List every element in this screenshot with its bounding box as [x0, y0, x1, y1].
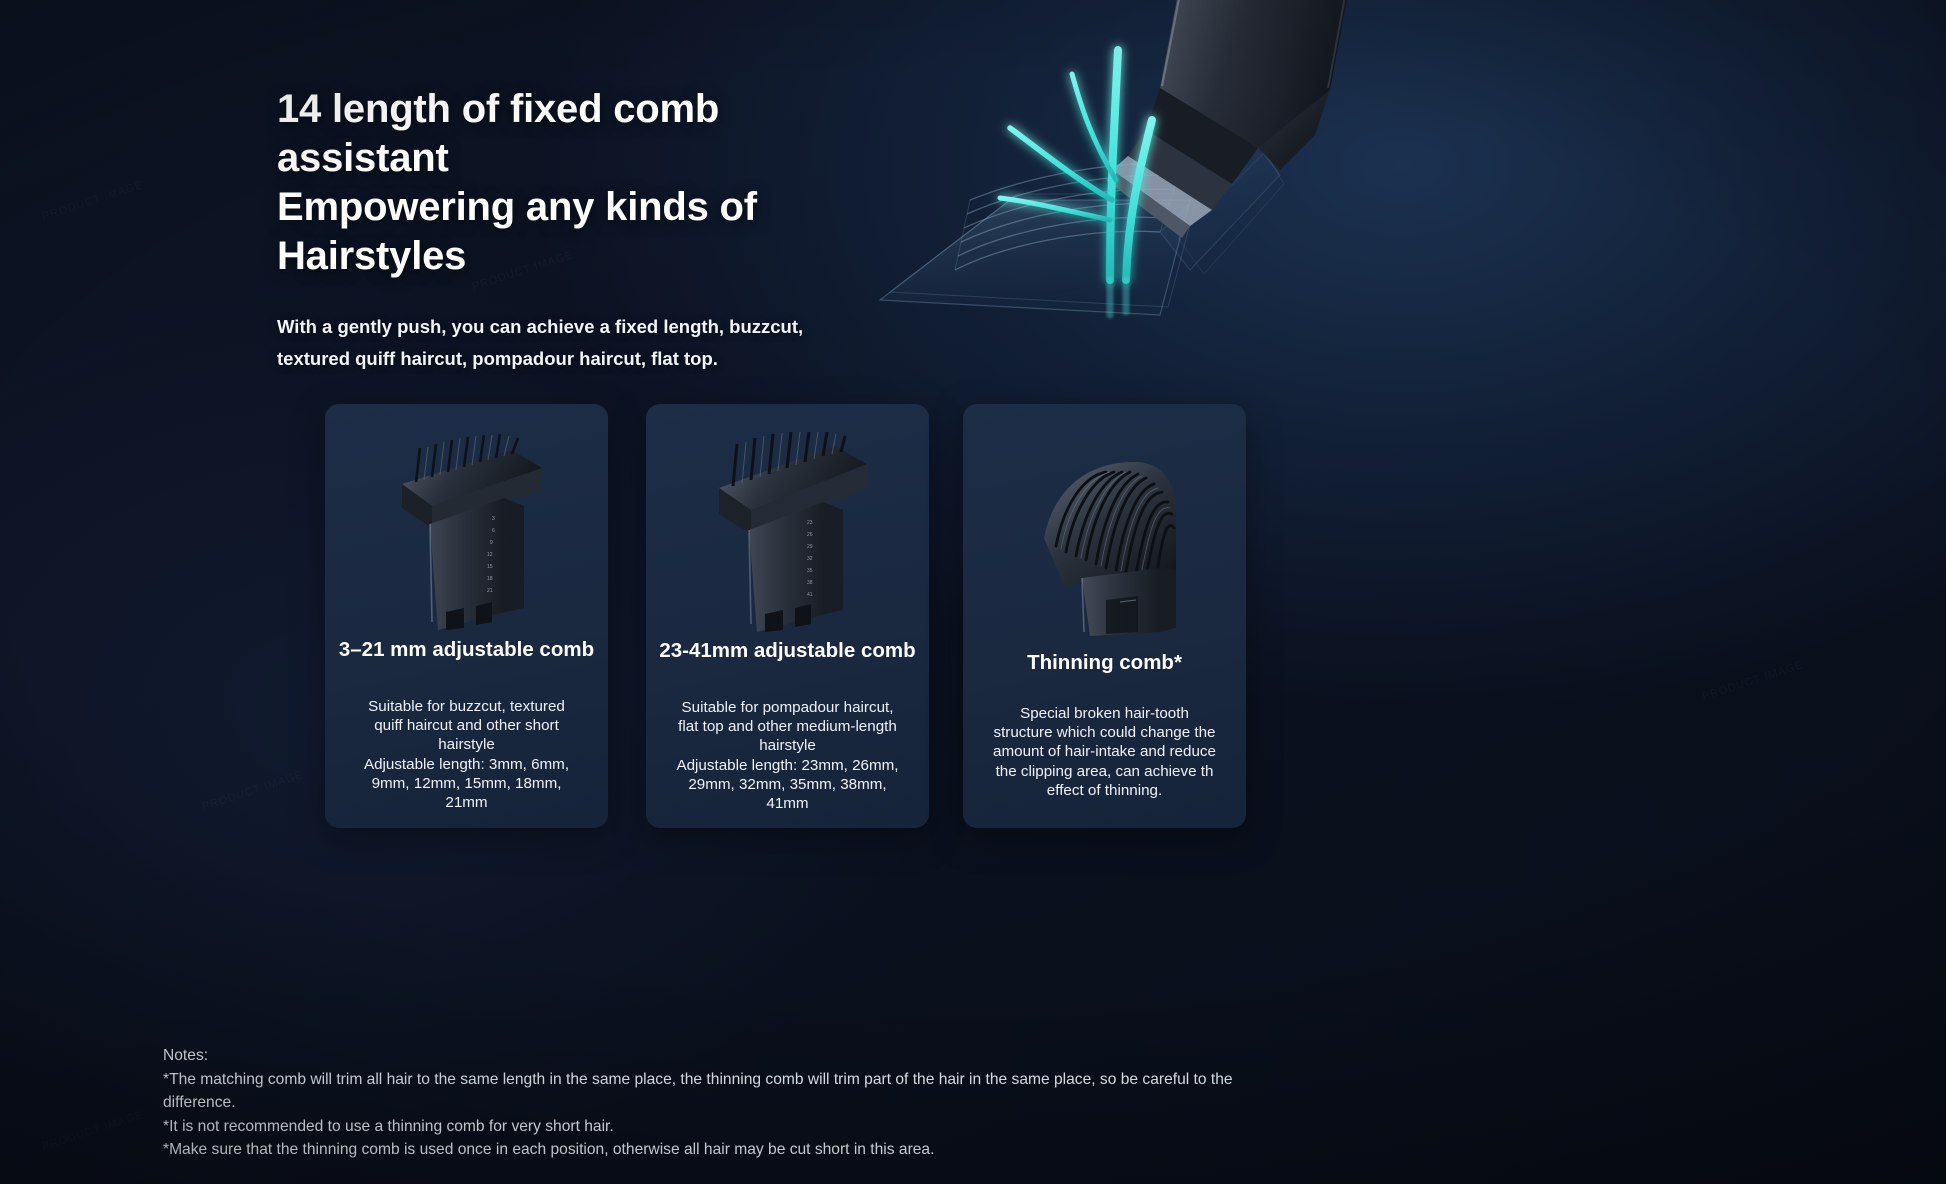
svg-text:32: 32: [807, 556, 813, 562]
card-description: Suitable for buzzcut, textured quiff hai…: [335, 697, 598, 812]
notes-line-1-cont: difference.: [163, 1091, 1863, 1115]
svg-text:21: 21: [487, 588, 493, 594]
card-desc-line-3: hairstyle: [656, 736, 919, 755]
card-description: Suitable for pompadour haircut, flat top…: [656, 698, 919, 813]
svg-text:35: 35: [807, 568, 813, 574]
card-title-line-1: 23-41mm adjustable: [659, 639, 855, 662]
headline-line-1: 14 length of fixed comb: [277, 85, 917, 134]
notes-line-3: *Make sure that the thinning comb is use…: [163, 1138, 1863, 1162]
headline-line-2: assistant: [277, 134, 917, 183]
card-thinning-comb[interactable]: Thinning comb* Special broken hair-tooth…: [963, 404, 1246, 828]
svg-text:26: 26: [807, 532, 813, 538]
card-title-line-2: comb: [539, 638, 594, 661]
svg-text:3: 3: [492, 516, 495, 522]
svg-text:12: 12: [487, 552, 493, 558]
card-title: 3–21 mm adjustable comb: [331, 636, 602, 664]
card-desc-line-2: quiff haircut and other short: [335, 716, 598, 735]
page-title: 14 length of fixed comb assistant Empowe…: [277, 85, 917, 281]
comb-attachment-3-21mm-image: 369 121518 21: [325, 422, 608, 642]
card-desc-line-6: 41mm: [656, 794, 919, 813]
card-desc-line-2: flat top and other medium-length: [656, 717, 919, 736]
subtitle-line-2: textured quiff haircut, pompadour haircu…: [277, 343, 877, 375]
card-desc-line-6: 21mm: [335, 793, 598, 812]
subtitle-line-1: With a gently push, you can achieve a fi…: [277, 311, 877, 343]
svg-text:18: 18: [487, 576, 493, 582]
comb-23-41-svg: 232629 323538 41: [693, 432, 883, 642]
svg-text:29: 29: [807, 544, 813, 550]
svg-text:15: 15: [487, 564, 493, 570]
card-title: Thinning comb*: [969, 649, 1240, 677]
svg-text:9: 9: [490, 540, 493, 546]
svg-text:38: 38: [807, 580, 813, 586]
card-title: 23-41mm adjustable comb: [652, 637, 923, 665]
card-title-line-2: comb: [861, 639, 916, 662]
card-desc-line-2: structure which could change the: [973, 723, 1236, 742]
headline-line-4: Hairstyles: [277, 232, 917, 281]
comb-cards: 369 121518 21 3–21 mm adjustable comb Su…: [325, 404, 1615, 828]
notes-line-2: *It is not recommended to use a thinning…: [163, 1115, 1863, 1139]
card-description: Special broken hair-tooth structure whic…: [973, 704, 1236, 800]
background-watermark: PRODUCT IMAGE: [41, 179, 145, 223]
card-desc-line-1: Special broken hair-tooth: [973, 704, 1236, 723]
card-desc-line-1: Suitable for buzzcut, textured: [335, 697, 598, 716]
card-desc-line-4: Adjustable length: 23mm, 26mm,: [656, 756, 919, 775]
comb-3-21-svg: 369 121518 21: [372, 432, 562, 642]
headline-line-3: Empowering any kinds of: [277, 183, 917, 232]
svg-text:23: 23: [807, 520, 813, 526]
card-title-line-1: 3–21 mm adjustable: [339, 638, 534, 661]
thinning-comb-svg: [1010, 442, 1200, 642]
notes-line-1: *The matching comb will trim all hair to…: [163, 1068, 1863, 1092]
card-adjustable-comb-23-41[interactable]: 232629 323538 41 23-41mm adjustable comb…: [646, 404, 929, 828]
subtitle: With a gently push, you can achieve a fi…: [277, 311, 877, 375]
comb-attachment-23-41mm-image: 232629 323538 41: [646, 422, 929, 642]
card-adjustable-comb-3-21[interactable]: 369 121518 21 3–21 mm adjustable comb Su…: [325, 404, 608, 828]
svg-text:6: 6: [492, 528, 495, 534]
hero-product-illustration: [860, 0, 1420, 370]
background-watermark: PRODUCT IMAGE: [41, 1109, 145, 1153]
notes-section: Notes: *The matching comb will trim all …: [163, 1044, 1863, 1162]
trimmer-comb-svg: [860, 0, 1420, 370]
card-desc-line-3: amount of hair-intake and reduce: [973, 742, 1236, 761]
svg-text:41: 41: [807, 592, 813, 598]
card-desc-line-5: 29mm, 32mm, 35mm, 38mm,: [656, 775, 919, 794]
background-watermark: PRODUCT IMAGE: [201, 769, 305, 813]
card-desc-line-5: 9mm, 12mm, 15mm, 18mm,: [335, 774, 598, 793]
notes-heading: Notes:: [163, 1044, 1863, 1068]
card-desc-line-4: Adjustable length: 3mm, 6mm,: [335, 755, 598, 774]
card-desc-line-1: Suitable for pompadour haircut,: [656, 698, 919, 717]
card-title-line-1: Thinning comb*: [1027, 651, 1182, 674]
card-desc-line-4: the clipping area, can achieve th: [973, 762, 1236, 781]
card-desc-line-3: hairstyle: [335, 735, 598, 754]
background-watermark: PRODUCT IMAGE: [1701, 659, 1805, 703]
card-desc-line-5: effect of thinning.: [973, 781, 1236, 800]
thinning-comb-attachment-image: [963, 422, 1246, 642]
product-feature-banner: PRODUCT IMAGE PRODUCT IMAGE PRODUCT IMAG…: [0, 0, 1946, 1184]
